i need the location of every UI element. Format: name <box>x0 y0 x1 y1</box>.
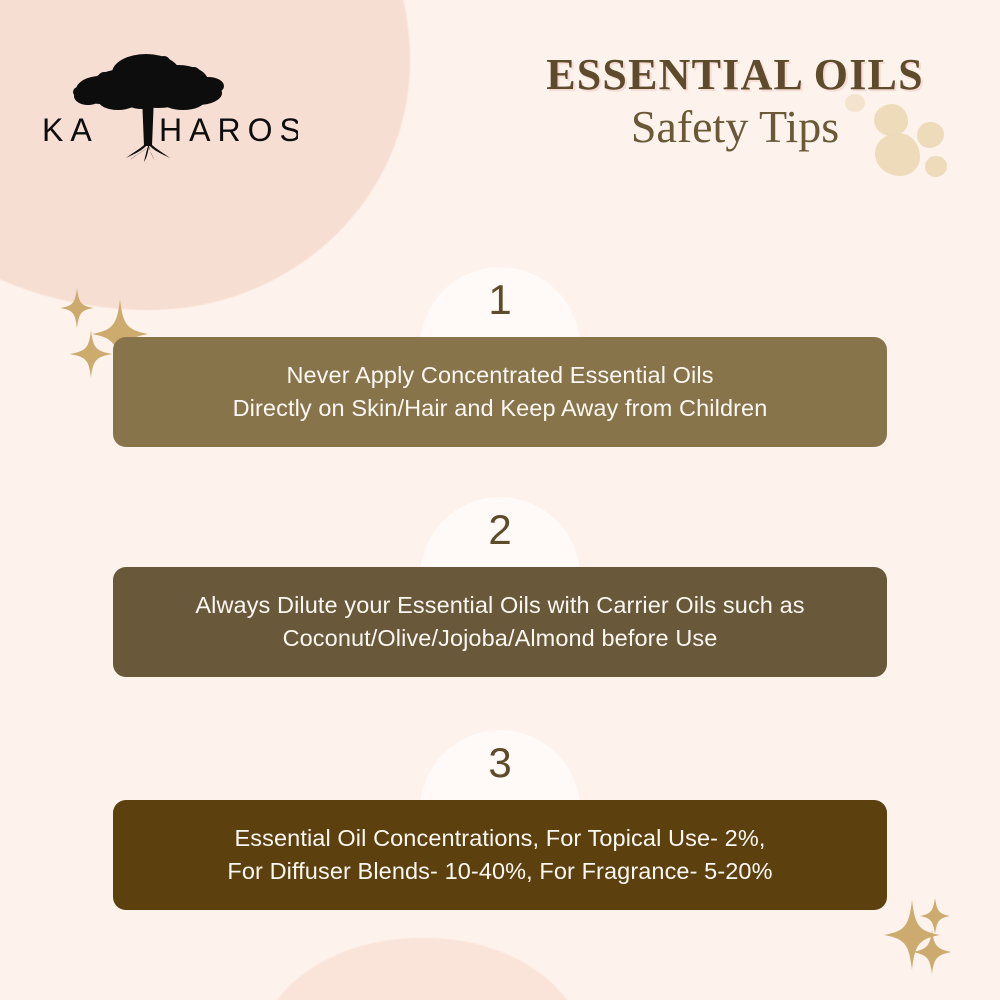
background-blob-bottom <box>258 938 588 1000</box>
poster-canvas: KA HAROS ESSENTIAL OILS Safety Tips 1 Ne… <box>0 0 1000 1000</box>
tip-card-2: Always Dilute your Essential Oils with C… <box>113 567 887 677</box>
page-title: ESSENTIAL OILS Safety Tips <box>500 52 970 153</box>
tip-number-2: 2 <box>420 509 580 551</box>
brand-name-left: KA <box>42 112 99 148</box>
sparkle-icon-br-small-bottom <box>913 930 951 974</box>
title-sub: Safety Tips <box>500 102 970 153</box>
tip-card-1: Never Apply Concentrated Essential Oils … <box>113 337 887 447</box>
brand-logo: KA HAROS <box>38 48 298 168</box>
tip-text-3: Essential Oil Concentrations, For Topica… <box>227 822 772 889</box>
sparkle-icon-br-large <box>884 900 940 970</box>
tip-number-3: 3 <box>420 742 580 784</box>
tip-item-3: 3 Essential Oil Concentrations, For Topi… <box>113 800 887 910</box>
tip-card-3: Essential Oil Concentrations, For Topica… <box>113 800 887 910</box>
tip-text-1: Never Apply Concentrated Essential Oils … <box>233 359 768 426</box>
sparkle-icon-small-top <box>60 288 94 328</box>
tip-item-2: 2 Always Dilute your Essential Oils with… <box>113 567 887 677</box>
tip-number-1: 1 <box>420 279 580 321</box>
sparkle-icon-small-bottom <box>70 330 112 378</box>
sparkle-icon-br-small-top <box>920 898 950 934</box>
title-main: ESSENTIAL OILS <box>500 52 970 98</box>
petal-icon-4 <box>925 156 947 177</box>
brand-name-right: HAROS <box>159 112 298 148</box>
tip-text-2: Always Dilute your Essential Oils with C… <box>195 589 804 656</box>
tip-item-1: 1 Never Apply Concentrated Essential Oil… <box>113 337 887 447</box>
